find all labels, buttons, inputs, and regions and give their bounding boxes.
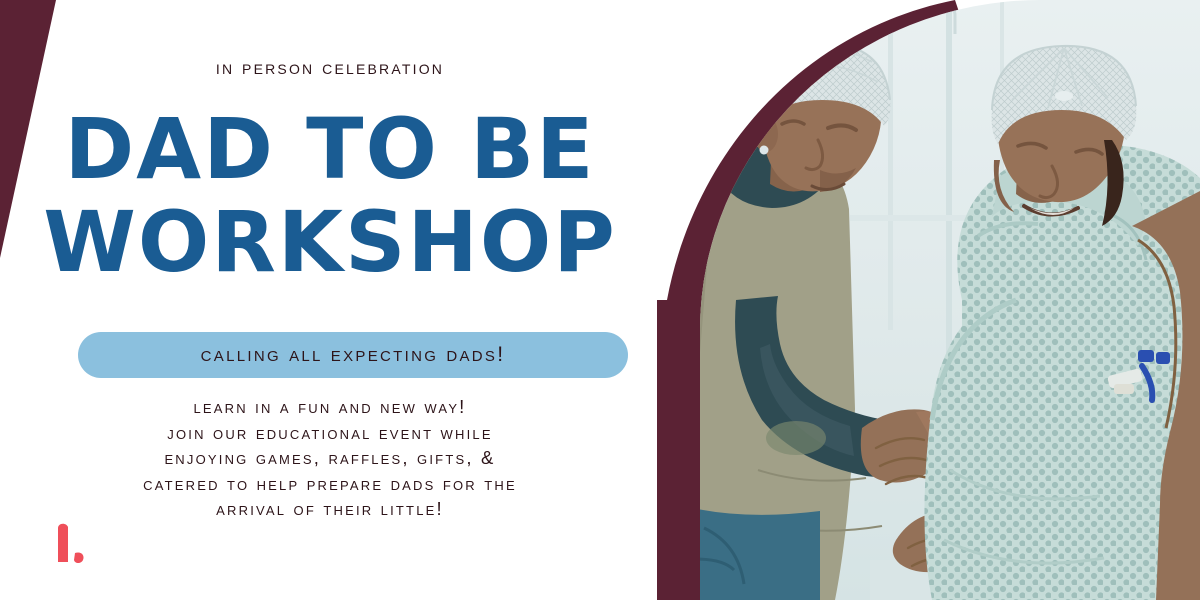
body-line: Join our educational event while: [30, 420, 630, 446]
body-line: Learn in a fun and new way!: [30, 394, 630, 420]
body-line: arrival of their little!: [30, 496, 630, 522]
headline-line-1: DAD TO BE: [0, 103, 660, 195]
body-description: Learn in a fun and new way! Join our edu…: [30, 394, 630, 522]
headline-line-2: WORKSHOP: [0, 196, 660, 288]
event-banner: In Person Celebration DAD TO BE WORKSHOP…: [0, 0, 1200, 600]
couple-hospital-photo: [700, 0, 1200, 600]
body-line: catered to help prepare dads for the: [30, 471, 630, 497]
eyebrow-text: In Person Celebration: [0, 57, 660, 80]
call-to-action-text: Calling all expecting dads!: [201, 343, 506, 367]
photo-frame: [700, 0, 1200, 600]
text-column: In Person Celebration DAD TO BE WORKSHOP…: [0, 0, 660, 600]
photo-panel: [655, 0, 1200, 600]
body-line: enjoying games, raffles, gifts, &: [30, 445, 630, 471]
call-to-action-pill: Calling all expecting dads!: [78, 332, 628, 378]
eventbrite-logo-icon: [48, 518, 106, 576]
